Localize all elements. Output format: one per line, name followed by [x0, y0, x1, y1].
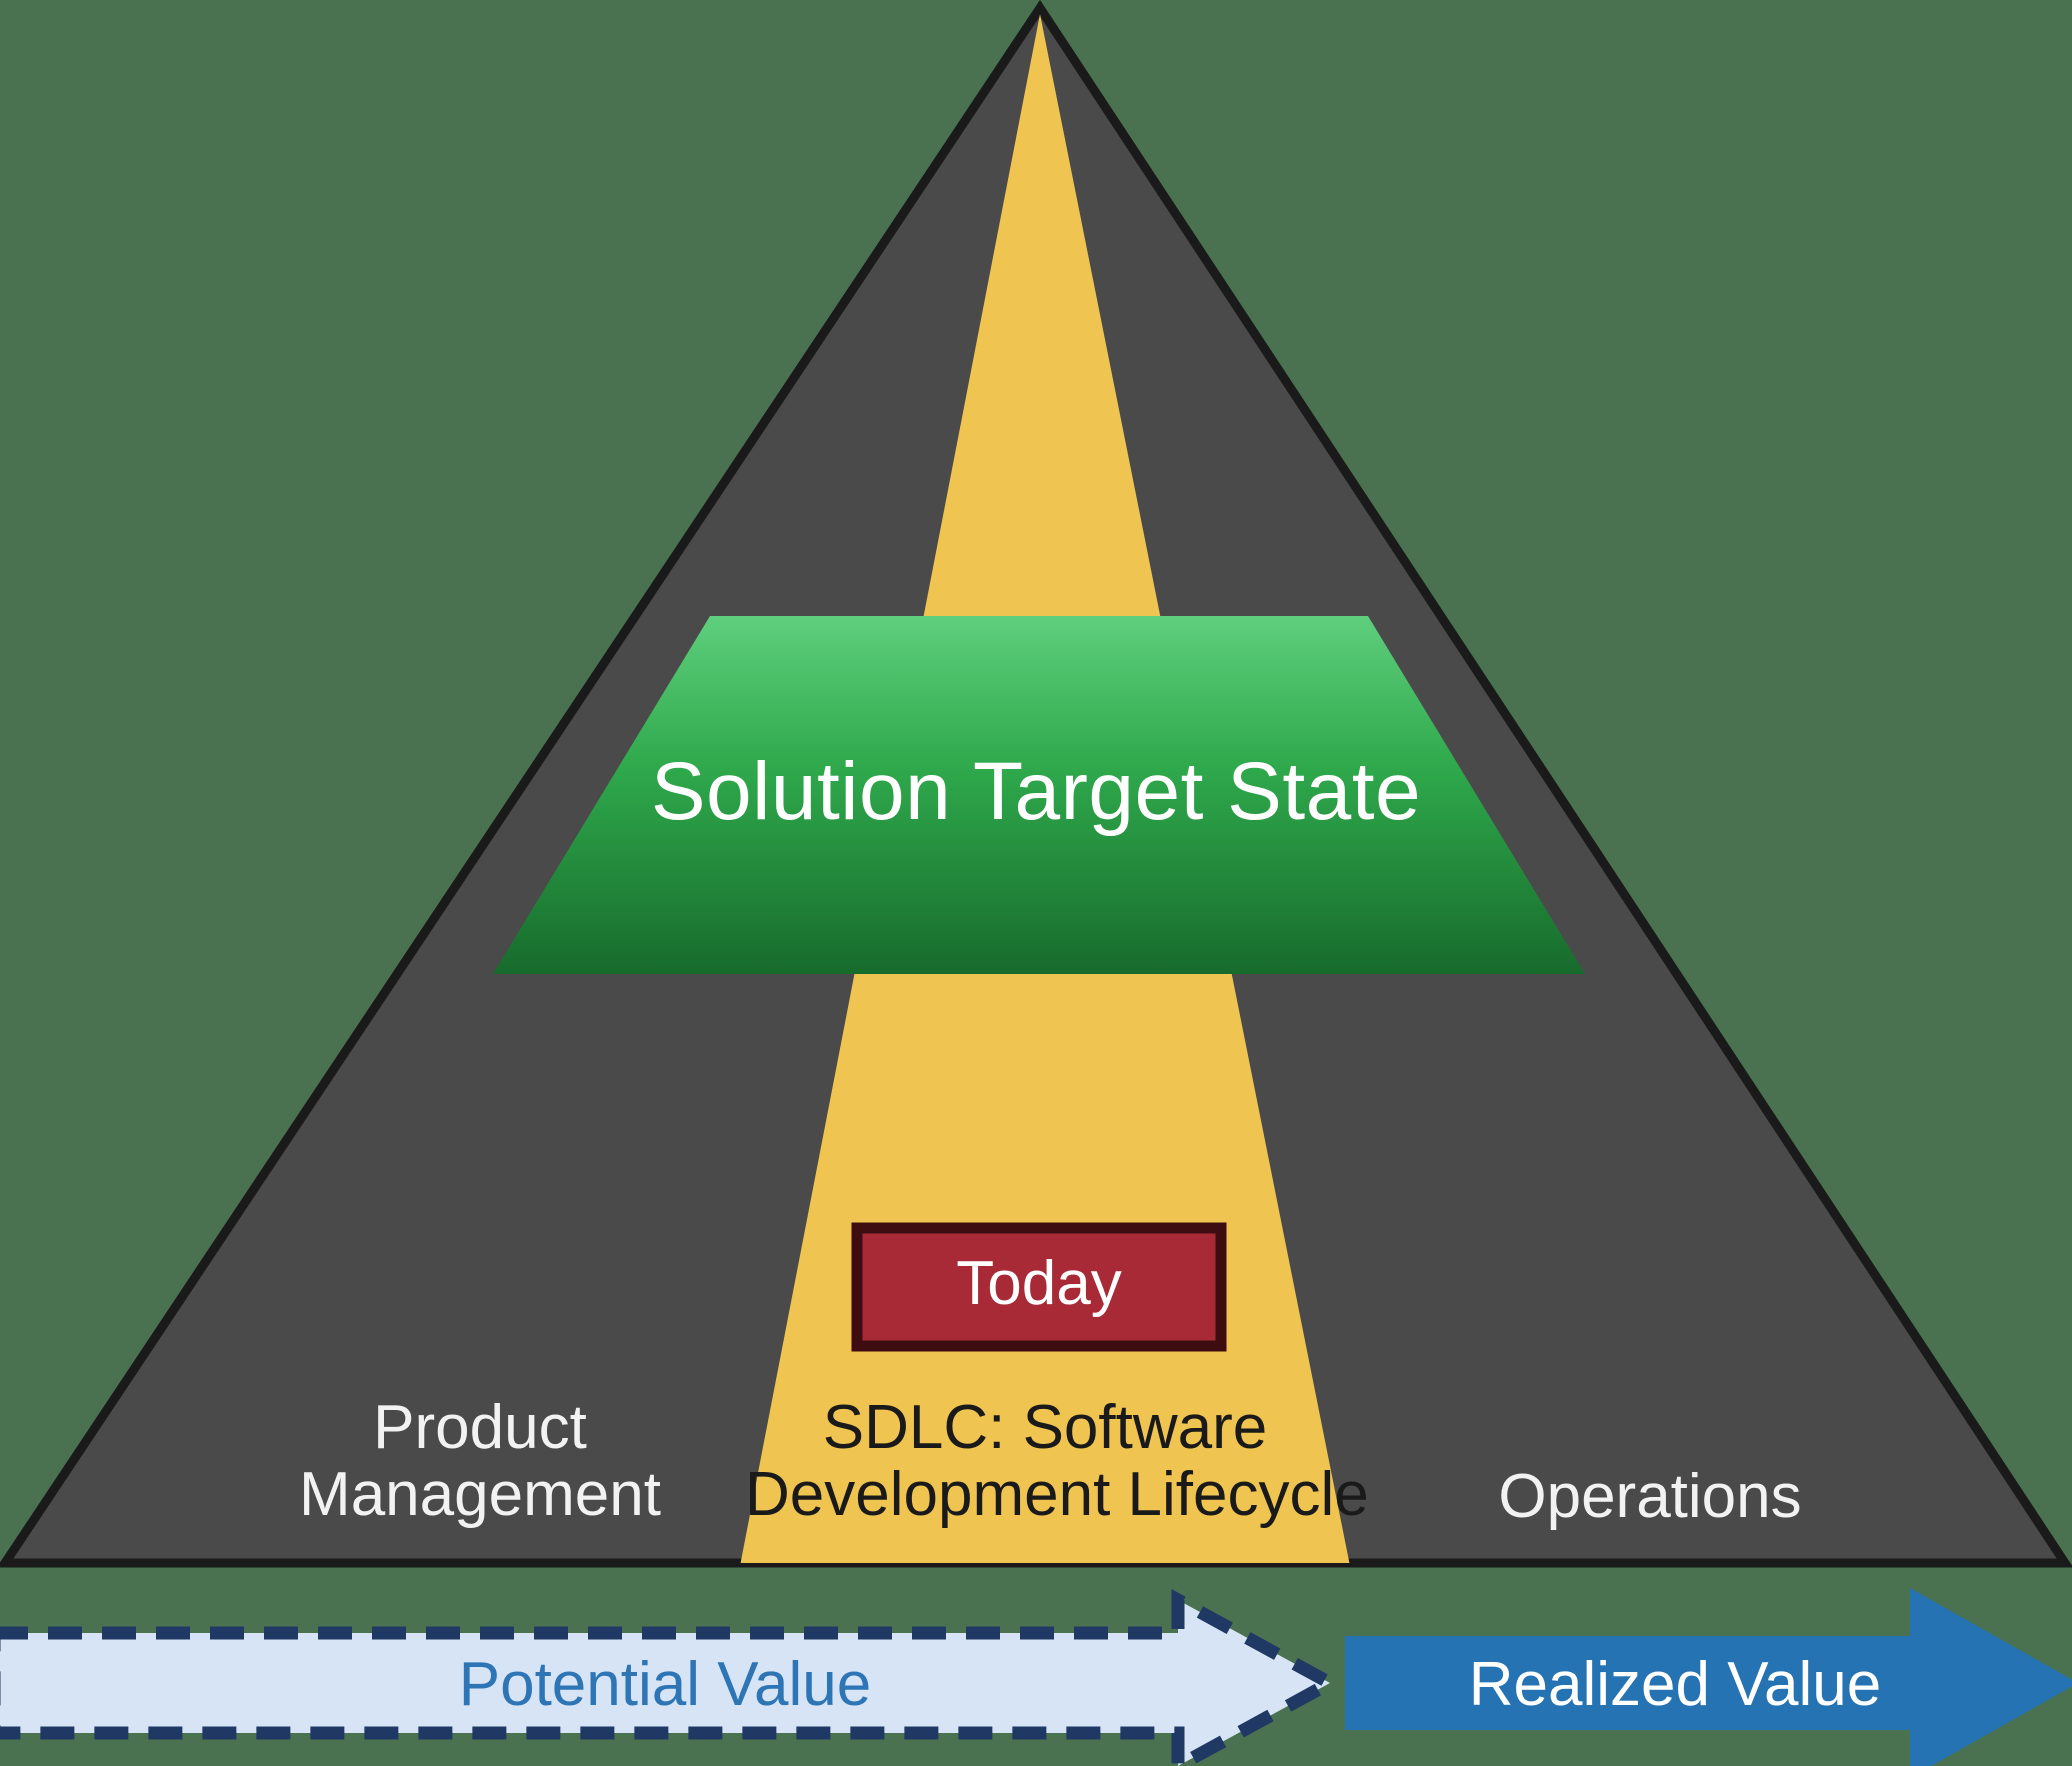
potential-value-arrow [0, 1600, 1330, 1766]
today-marker-box [857, 1228, 1221, 1346]
pyramid-diagram-svg [0, 0, 2072, 1766]
diagram-canvas: Solution Target State Today ProductManag… [0, 0, 2072, 1766]
realized-value-arrow [1345, 1588, 2072, 1766]
